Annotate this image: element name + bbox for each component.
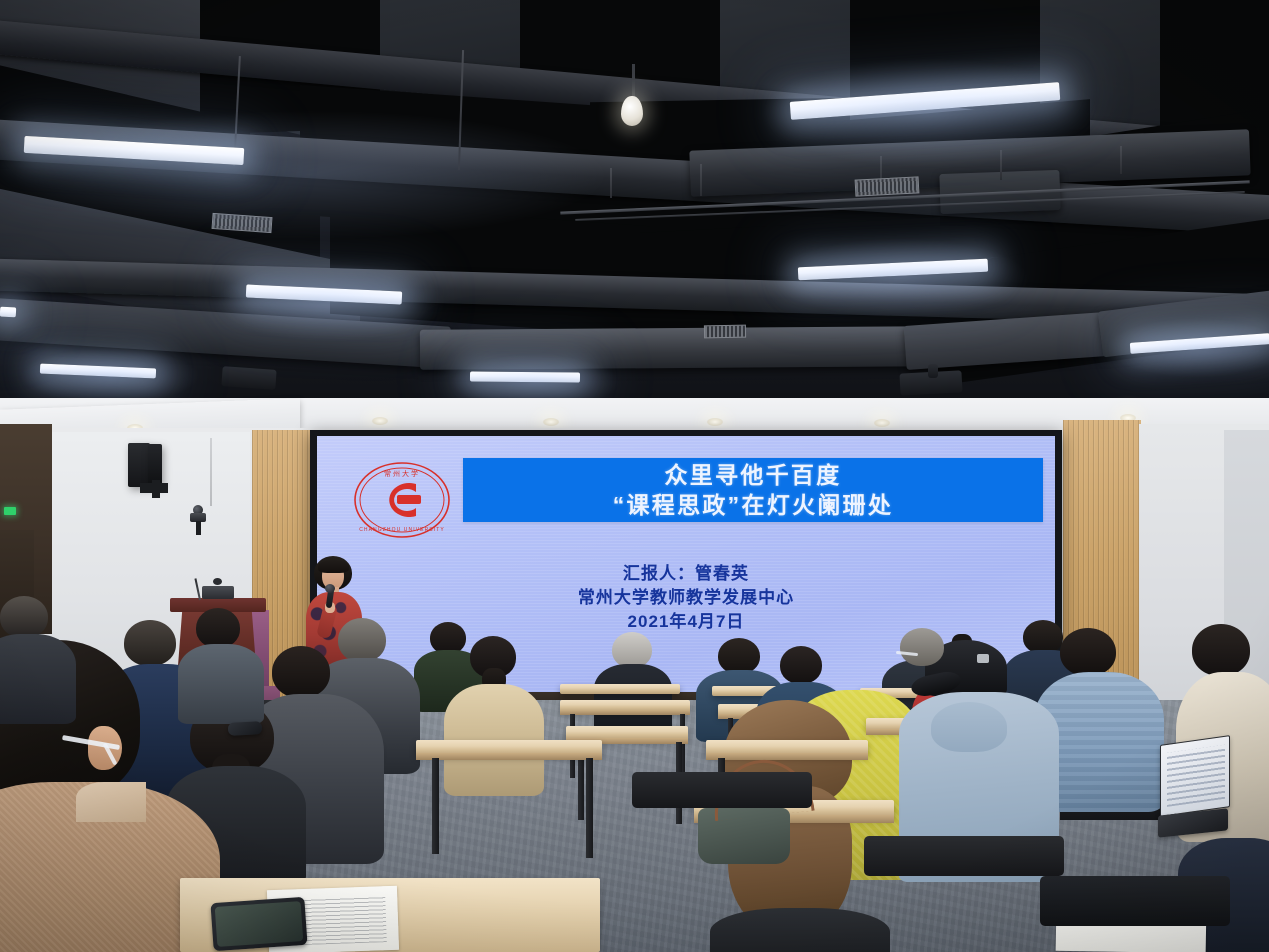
lecture-room-photo: 常州大学 CHANGZHOU UNIVERSITY 众里寻他千百度 “课程思政”… — [0, 0, 1269, 952]
camera-cable — [210, 438, 212, 506]
desk-mid-3-edge — [706, 753, 868, 760]
attendee-head — [272, 646, 330, 698]
slide-title-line-2: “课程思政”在灯火阑珊处 — [613, 490, 894, 520]
ceiling — [0, 0, 1269, 432]
chair-back — [1040, 876, 1230, 926]
slide-title-line-1: 众里寻他千百度 — [664, 460, 841, 490]
camera-bracket — [196, 521, 201, 535]
recessed-downlight — [543, 418, 559, 426]
slide-subtitle-block: 汇报人：管春英 常州大学教师教学发展中心 2021年4月7日 — [317, 562, 1055, 634]
attendee-head — [718, 638, 760, 674]
exit-sign — [4, 507, 16, 515]
presenter-fringe — [318, 560, 349, 573]
slide-organization: 常州大学教师教学发展中心 — [578, 586, 794, 610]
pendant-bulb-icon — [621, 96, 643, 126]
changzhou-university-logo-icon: 常州大学 CHANGZHOU UNIVERSITY — [353, 458, 451, 542]
recessed-downlight — [372, 417, 388, 425]
attendee-cream — [1192, 624, 1250, 676]
chair-back — [632, 772, 812, 808]
desk-mid-2-edge — [416, 753, 602, 760]
pendant-stem — [632, 64, 635, 100]
svg-text:常州大学: 常州大学 — [384, 469, 420, 478]
attendee-back-2 — [718, 638, 760, 674]
attendee-mid-4 — [780, 646, 822, 684]
lectern-microphone-head — [213, 578, 222, 585]
attendee-back-4 — [1023, 620, 1063, 654]
university-logo: 常州大学 CHANGZHOU UNIVERSITY — [353, 458, 451, 542]
smartphone-screen — [215, 901, 304, 947]
attendee-far-left-2 — [196, 608, 240, 648]
laptop[interactable] — [1160, 735, 1230, 817]
air-vent — [704, 325, 746, 339]
recessed-downlight — [707, 418, 723, 426]
attendee-head — [612, 632, 652, 668]
slide-date: 2021年4月7日 — [628, 610, 745, 634]
smartphone-secondary[interactable] — [228, 721, 263, 736]
fluorescent-tube-light — [470, 371, 580, 382]
attendee-mid-2 — [338, 618, 386, 662]
attendee-head — [0, 596, 48, 638]
air-vent — [855, 176, 920, 196]
desk-back-left — [560, 684, 680, 694]
fluorescent-tube-light — [40, 364, 156, 379]
hoodie-hood — [931, 702, 1007, 752]
attendee-back-1 — [612, 632, 652, 668]
desk-row3-left-edge — [560, 710, 690, 715]
attendee-gray-suit — [272, 646, 330, 698]
jacket-collar — [76, 782, 146, 822]
attendee-far-left-1 — [0, 596, 48, 638]
attendee-denim — [1060, 628, 1116, 676]
lectern-laptop — [202, 586, 234, 599]
cap-logo-icon — [977, 654, 989, 663]
desk-leg — [432, 758, 439, 854]
desk-leg — [586, 758, 593, 858]
ceiling-projector-mount — [928, 364, 938, 378]
ceiling-projector-secondary — [221, 366, 276, 390]
wall-speaker — [128, 443, 150, 487]
slide-title-block: 众里寻他千百度 “课程思政”在灯火阑珊处 — [463, 458, 1043, 522]
attendee-head — [780, 646, 822, 684]
microphone-head-icon — [325, 584, 335, 593]
smartphone[interactable] — [210, 897, 307, 951]
fluorescent-tube-light — [0, 307, 16, 318]
recessed-downlight — [874, 419, 890, 427]
chair-back — [864, 836, 1064, 876]
attendee-head — [900, 628, 944, 666]
attendee-body — [0, 634, 76, 724]
attendee-back-5 — [430, 622, 466, 654]
attendee-head — [338, 618, 386, 662]
slide-presenter: 汇报人：管春英 — [623, 562, 749, 586]
attendee-gray-glasses — [900, 628, 944, 666]
attendee-head — [1023, 620, 1063, 654]
speaker-bracket — [152, 480, 160, 498]
attendee-head — [196, 608, 240, 648]
svg-text:CHANGZHOU UNIVERSITY: CHANGZHOU UNIVERSITY — [359, 527, 445, 533]
attendee-mid-1 — [470, 636, 516, 678]
attendee-body-dark — [710, 908, 890, 952]
attendee-head — [1060, 628, 1116, 676]
laptop-screen-content — [1167, 745, 1225, 807]
attendee-head — [1192, 624, 1250, 676]
attendee-body — [178, 644, 264, 724]
